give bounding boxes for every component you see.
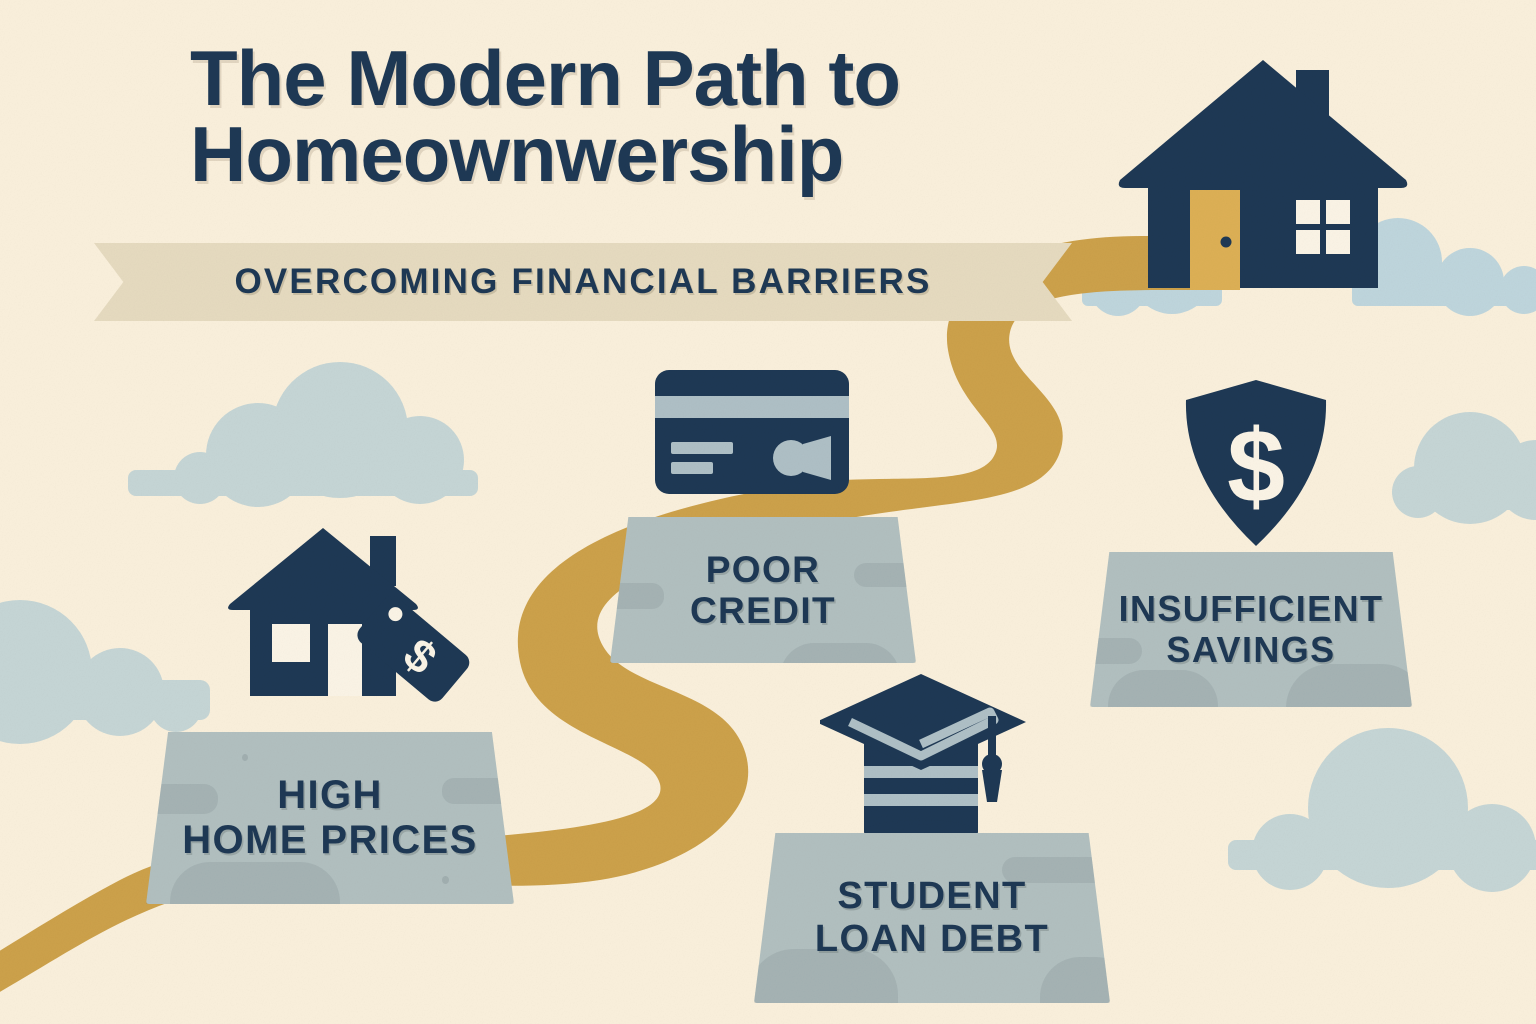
barrier-label-line2: HOME PRICES: [182, 818, 477, 863]
barrier-insufficient-savings[interactable]: INSUFFICIENT SAVINGS: [1090, 552, 1412, 707]
barrier-label-line2: CREDIT: [690, 590, 836, 631]
cloud-bottom-right: [1228, 728, 1536, 892]
subtitle-text: OVERCOMING FINANCIAL BARRIERS: [234, 262, 931, 302]
barrier-high-home-prices[interactable]: HIGH HOME PRICES: [146, 732, 514, 904]
shield-dollar-icon: $: [1182, 378, 1330, 550]
svg-text:$: $: [1227, 409, 1285, 525]
barrier-poor-credit[interactable]: POOR CREDIT: [610, 517, 916, 663]
cloud-upper-left: [128, 362, 478, 507]
title-line-2: Homeownwership: [190, 116, 1050, 192]
barrier-label-line1: INSUFFICIENT: [1119, 589, 1384, 629]
title-line-1: The Modern Path to: [190, 40, 1050, 116]
cloud-lower-left: [0, 600, 210, 744]
page-title: The Modern Path to Homeownwership: [190, 40, 1050, 193]
barrier-label-line1: HIGH: [277, 773, 383, 818]
infographic-canvas: $: [0, 0, 1536, 1024]
barrier-label-line2: LOAN DEBT: [815, 918, 1049, 961]
barrier-label-line1: POOR: [706, 549, 821, 590]
barrier-label-line2: SAVINGS: [1166, 630, 1335, 670]
house-price-tag-icon: $: [228, 520, 488, 720]
credit-card-icon: [655, 370, 855, 498]
cloud-right-middle: [1392, 412, 1536, 524]
barrier-student-loan-debt[interactable]: STUDENT LOAN DEBT: [754, 833, 1110, 1003]
graduation-cap-icon: [820, 670, 1050, 845]
house-with-door-icon: [1118, 52, 1408, 302]
subtitle-ribbon: OVERCOMING FINANCIAL BARRIERS: [94, 243, 1072, 321]
barrier-label-line1: STUDENT: [837, 875, 1026, 918]
